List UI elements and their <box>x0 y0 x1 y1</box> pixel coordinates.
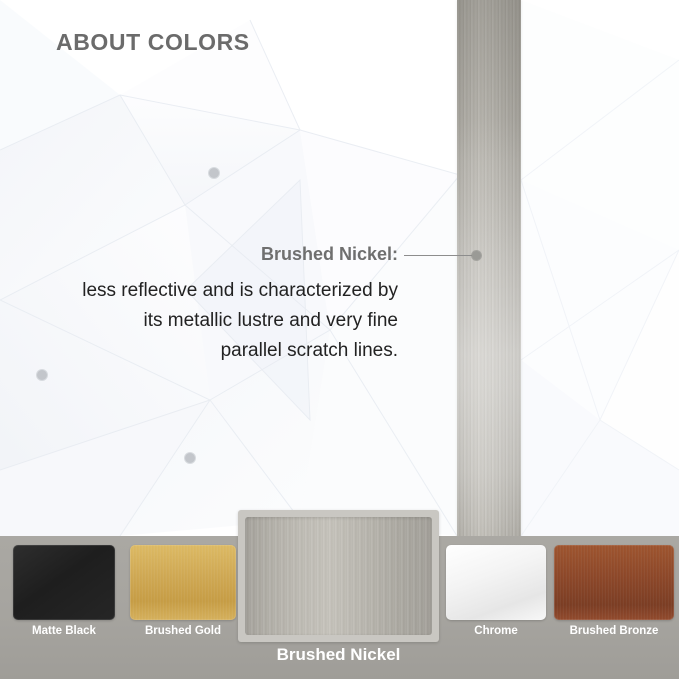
swatch-chip-chrome[interactable] <box>446 545 546 620</box>
callout-description-line: its metallic lustre and very fine <box>0 306 398 336</box>
callout-leader-dot <box>472 251 481 260</box>
decor-dot <box>185 453 195 463</box>
swatch-chip-brushed-nickel[interactable] <box>245 517 432 635</box>
nickel-strip-sheen <box>457 0 521 537</box>
page-title: ABOUT COLORS <box>56 29 250 56</box>
callout-description-line: parallel scratch lines. <box>0 336 398 366</box>
swatch-label-brushed-gold: Brushed Gold <box>130 625 236 637</box>
about-colors-infographic: ABOUT COLORS Brushed Nickel: less reflec… <box>0 0 679 679</box>
decor-dot <box>37 370 47 380</box>
swatch-chrome[interactable]: Chrome <box>446 545 546 637</box>
callout-leader-line <box>404 255 476 256</box>
swatch-label-brushed-nickel: Brushed Nickel <box>238 645 439 665</box>
swatch-chip-brushed-bronze[interactable] <box>554 545 674 620</box>
decor-dot <box>209 168 219 178</box>
swatch-label-brushed-bronze: Brushed Bronze <box>554 625 674 637</box>
swatch-label-chrome: Chrome <box>446 625 546 637</box>
swatch-chip-brushed-gold[interactable] <box>130 545 236 620</box>
callout-description-line: less reflective and is characterized by <box>0 276 398 306</box>
swatch-label-matte-black: Matte Black <box>13 625 115 637</box>
callout-description: less reflective and is characterized by … <box>0 276 398 366</box>
swatch-brushed-gold[interactable]: Brushed Gold <box>130 545 236 637</box>
swatch-matte-black[interactable]: Matte Black <box>13 545 115 637</box>
brushed-nickel-sample-strip <box>457 0 521 537</box>
callout-title: Brushed Nickel: <box>0 244 398 265</box>
swatch-brushed-nickel-selected[interactable] <box>238 510 439 642</box>
swatch-brushed-bronze[interactable]: Brushed Bronze <box>554 545 674 637</box>
swatch-chip-matte-black[interactable] <box>13 545 115 620</box>
